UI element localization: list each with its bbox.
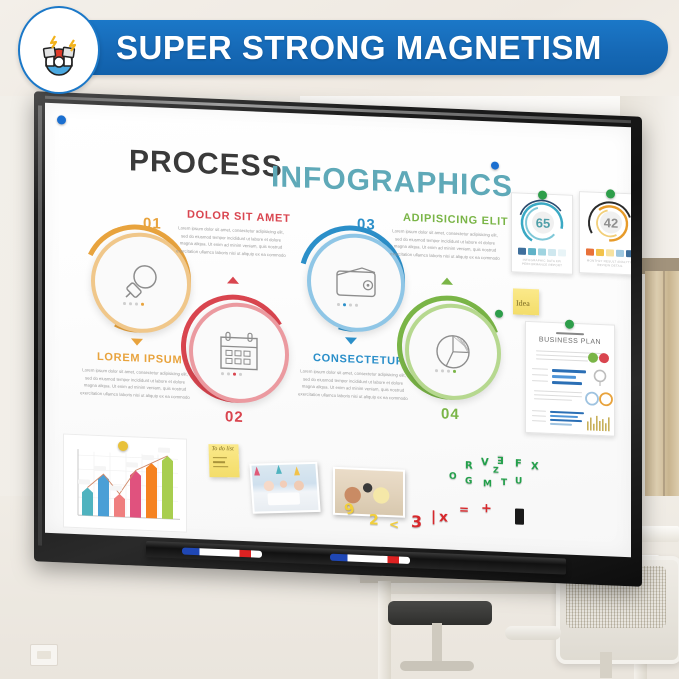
photo-birthday-party-image	[251, 464, 318, 512]
step-number-02: 02	[225, 408, 244, 426]
sticky-note-todo-text: To do list	[212, 446, 234, 452]
gauge-card-42[interactable]: 42 MONTHLY RESULT ANALYTIC REVIEW DETAIL	[579, 191, 631, 276]
gauge-swatches-42	[586, 248, 631, 257]
magnet-badge	[18, 6, 100, 94]
bp-donut-1	[592, 369, 608, 388]
magnet-dot-yellow	[118, 441, 128, 451]
sticky-note-idea-text: Idea	[516, 298, 530, 308]
mesh-chair-arm	[505, 626, 561, 640]
office-chair-base	[400, 661, 474, 671]
step-arrow-04	[441, 277, 453, 285]
gauge-caption-42: MONTHLY RESULT ANALYTIC REVIEW DETAIL	[580, 258, 631, 269]
office-chair-post	[432, 623, 442, 665]
whiteboard-surface[interactable]: PROCESS INFOGRAPHICS 01 LOREM IPSUM	[45, 103, 631, 558]
step-caption-03: CONSECTETUR	[313, 352, 404, 368]
magnet-dot-green-3	[565, 320, 574, 329]
floor-outlet	[30, 644, 58, 666]
step-caption-01: LOREM IPSUM	[97, 351, 182, 367]
step-body-04: Lorem ipsum dolor sit amet, consectetur …	[389, 227, 501, 262]
frame-highlight-left	[38, 105, 42, 545]
magnetic-whiteboard[interactable]: PROCESS INFOGRAPHICS 01 LOREM IPSUM	[34, 91, 642, 586]
gauge-swatches-65	[518, 248, 566, 257]
photo-family-baby[interactable]	[333, 467, 405, 518]
photo-birthday-party[interactable]	[249, 462, 320, 514]
horseshoe-magnet-icon	[31, 22, 87, 78]
business-plan-poster[interactable]: BUSINESS PLAN	[525, 321, 615, 437]
poster-title-infographics: INFOGRAPHICS	[271, 160, 513, 204]
office-chair-seat	[388, 601, 492, 625]
headline-text: SUPER STRONG MAGNETISM	[116, 29, 602, 67]
step-arrow-01	[131, 338, 143, 346]
step-number-04: 04	[441, 405, 460, 423]
business-plan-title: BUSINESS PLAN	[526, 336, 614, 347]
black-eraser[interactable]	[515, 508, 524, 524]
door-seam	[663, 271, 665, 501]
step-arrow-03	[345, 337, 357, 345]
magnet-dot-blue-1[interactable]	[57, 115, 66, 124]
step-caption-04: ADIPISICING ELIT	[403, 212, 508, 228]
door-panel	[645, 271, 679, 501]
step-body-03: Lorem ipsum dolor sit amet, consectetur …	[297, 367, 409, 402]
sticky-note-todo[interactable]: To do list	[208, 444, 239, 477]
magnet-dot-green-4[interactable]	[495, 310, 503, 318]
sticky-note-idea[interactable]: Idea	[513, 288, 539, 315]
gauge-value-65: 65	[532, 211, 554, 234]
desk-leg-left	[378, 581, 391, 679]
poster-title-process: PROCESS	[129, 144, 283, 184]
mesh-chair-post	[600, 652, 612, 678]
gauge-card-65[interactable]: 65 INFOGRAPHIC DATA KPI PERFORMANCE REPO…	[511, 192, 573, 275]
product-marketing-image: PROCESS INFOGRAPHICS 01 LOREM IPSUM	[0, 0, 679, 679]
wallet-icon	[332, 262, 380, 304]
bp-donut-pair	[584, 390, 614, 411]
magnet-dot-blue-2[interactable]	[491, 161, 499, 169]
gauge-value-42: 42	[600, 211, 622, 234]
step-arrow-02	[227, 276, 239, 284]
step-body-01: Lorem ipsum dolor sit amet, consectetur …	[79, 366, 191, 401]
step-body-02: Lorem ipsum dolor sit amet, consectetur …	[175, 224, 287, 259]
calendar-icon	[215, 329, 263, 377]
bp-rule	[556, 332, 584, 335]
magnifier-icon	[118, 259, 164, 307]
sticky-note-todo-lines	[213, 457, 228, 467]
headline-banner: SUPER STRONG MAGNETISM	[48, 20, 668, 75]
step-caption-02: DOLOR SIT AMET	[187, 209, 291, 225]
bp-pie-pair	[588, 350, 610, 369]
bar-chart-card[interactable]	[63, 433, 187, 532]
gauge-caption-65: INFOGRAPHIC DATA KPI PERFORMANCE REPORT	[512, 257, 572, 268]
